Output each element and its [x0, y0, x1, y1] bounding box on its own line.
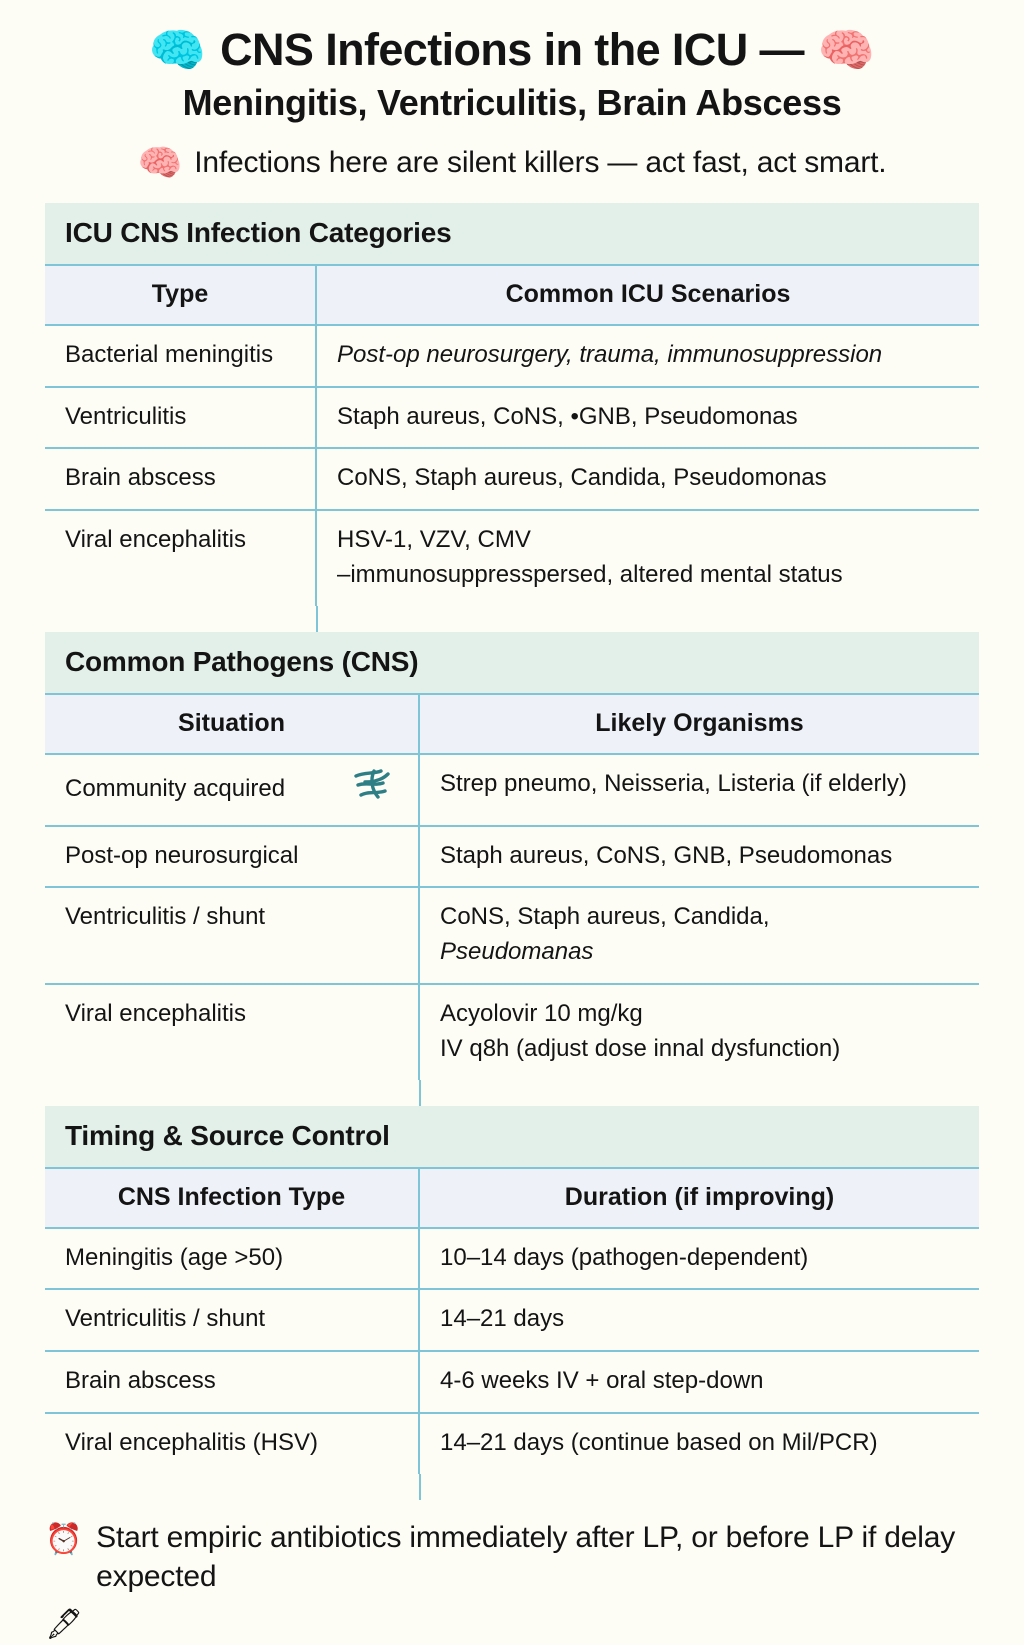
table-row: Viral encephalitis Acyolovir 10 mg/kg IV… — [45, 984, 979, 1080]
column-header-organisms: Likely Organisms — [419, 694, 979, 754]
cell-line: Pseudomanas — [440, 935, 965, 970]
table-row: Ventriculitis / shunt CoNS, Staph aureus… — [45, 887, 979, 984]
cell-duration: 4-6 weeks IV + oral step-down — [419, 1351, 979, 1413]
cell-situation-label: Community acquired — [65, 772, 285, 807]
cell-scenarios: Staph aureus, CoNS, •GNB, Pseudomonas — [316, 387, 979, 449]
column-header-duration: Duration (if improving) — [419, 1168, 979, 1228]
table-timing-source-control: CNS Infection Type Duration (if improvin… — [45, 1167, 979, 1474]
table-row: Post-op neurosurgical Staph aureus, CoNS… — [45, 826, 979, 888]
table-header-row: Type Common ICU Scenarios — [45, 265, 979, 325]
cell-duration: 10–14 days (pathogen-dependent) — [419, 1228, 979, 1290]
table-divider-tail — [45, 606, 979, 632]
cell-line: –immunosuppresspersed, altered mental st… — [337, 558, 965, 593]
table-common-pathogens: Situation Likely Organisms Community acq… — [45, 693, 979, 1080]
page-header: 🧠 CNS Infections in the ICU — 🧠 Meningit… — [0, 0, 1024, 181]
cell-line: IV q8h (adjust dose innal dysfunction) — [440, 1032, 965, 1067]
page-subtitle: Meningitis, Ventriculitis, Brain Abscess — [30, 83, 994, 123]
cell-organisms: CoNS, Staph aureus, Candida, Pseudomanas — [419, 887, 979, 984]
cell-situation: Post-op neurosurgical — [45, 826, 419, 888]
cell-situation: Ventriculitis / shunt — [45, 887, 419, 984]
cell-organisms: Staph aureus, CoNS, GNB, Pseudomonas — [419, 826, 979, 888]
table-row: Brain abscess 4-6 weeks IV + oral step-d… — [45, 1351, 979, 1413]
table-row: Bacterial meningitis Post-op neurosurger… — [45, 325, 979, 387]
cell-infection-type: Meningitis (age >50) — [45, 1228, 419, 1290]
column-header-type: Type — [45, 265, 316, 325]
spacer — [0, 181, 1024, 203]
cell-situation: Community acquired — [45, 754, 419, 826]
cell-type: Viral encephalitis — [45, 510, 316, 606]
column-header-situation: Situation — [45, 694, 419, 754]
brain-icon-pink: 🧠 — [818, 27, 875, 73]
title-row: 🧠 CNS Infections in the ICU — 🧠 — [30, 26, 994, 73]
table-header-row: CNS Infection Type Duration (if improvin… — [45, 1168, 979, 1228]
cell-type: Brain abscess — [45, 448, 316, 510]
cell-scenarios: Post-op neurosurgery, trauma, immunosupp… — [316, 325, 979, 387]
section-icu-cns-infection-categories: ICU CNS Infection Categories Type Common… — [45, 203, 979, 632]
cell-scenarios: CoNS, Staph aureus, Candida, Pseudomonas — [316, 448, 979, 510]
cell-situation: Viral encephalitis — [45, 984, 419, 1080]
table-row: Brain abscess CoNS, Staph aureus, Candid… — [45, 448, 979, 510]
column-header-scenarios: Common ICU Scenarios — [316, 265, 979, 325]
note-item-clipped: 🖋 — [45, 1603, 979, 1645]
table-row: Ventriculitis / shunt 14–21 days — [45, 1289, 979, 1351]
cell-duration: 14–21 days (continue based on Mil/PCR) — [419, 1413, 979, 1474]
cell-organisms: Acyolovir 10 mg/kg IV q8h (adjust dose i… — [419, 984, 979, 1080]
cell-infection-type: Brain abscess — [45, 1351, 419, 1413]
alarm-clock-icon: ⏰ — [45, 1518, 82, 1560]
cell-infection-type: Ventriculitis / shunt — [45, 1289, 419, 1351]
cell-line: Acyolovir 10 mg/kg — [440, 997, 965, 1032]
cell-infection-type: Viral encephalitis (HSV) — [45, 1413, 419, 1474]
cell-scenarios: HSV-1, VZV, CMV –immunosuppresspersed, a… — [316, 510, 979, 606]
section-common-pathogens: Common Pathogens (CNS) Situation Likely … — [45, 632, 979, 1106]
brain-icon-pink-small: 🧠 — [138, 145, 183, 181]
table-divider-tail — [45, 1080, 979, 1106]
column-header-infection-type: CNS Infection Type — [45, 1168, 419, 1228]
table-row: Viral encephalitis HSV-1, VZV, CMV –immu… — [45, 510, 979, 606]
tagline-row: 🧠 Infections here are silent killers — a… — [30, 145, 994, 181]
tagline-text: Infections here are silent killers — act… — [194, 146, 886, 180]
table-divider-tail — [45, 1474, 979, 1500]
section-band-title: Common Pathogens (CNS) — [45, 632, 979, 693]
cell-organisms: Strep pneumo, Neisseria, Listeria (if el… — [419, 754, 979, 826]
table-row: Meningitis (age >50) 10–14 days (pathoge… — [45, 1228, 979, 1290]
table-infection-categories: Type Common ICU Scenarios Bacterial meni… — [45, 264, 979, 606]
cell-duration: 14–21 days — [419, 1289, 979, 1351]
pen-nib-icon: 🖋 — [45, 1603, 83, 1645]
table-row: Community acquired — [45, 754, 979, 826]
note-text: Start empiric antibiotics immediately af… — [96, 1518, 979, 1597]
brain-icon-blue: 🧠 — [149, 27, 206, 73]
cell-type: Ventriculitis — [45, 387, 316, 449]
table-header-row: Situation Likely Organisms — [45, 694, 979, 754]
cell-type: Bacterial meningitis — [45, 325, 316, 387]
footer-notes: ⏰ Start empiric antibiotics immediately … — [45, 1518, 979, 1645]
page-title: CNS Infections in the ICU — — [220, 26, 804, 73]
table-row: Ventriculitis Staph aureus, CoNS, •GNB, … — [45, 387, 979, 449]
leaf-swirl-icon — [352, 767, 392, 812]
section-band-title: ICU CNS Infection Categories — [45, 203, 979, 264]
table-row: Viral encephalitis (HSV) 14–21 days (con… — [45, 1413, 979, 1474]
note-item: ⏰ Start empiric antibiotics immediately … — [45, 1518, 979, 1597]
cell-line: HSV-1, VZV, CMV — [337, 523, 965, 558]
cell-line: CoNS, Staph aureus, Candida, — [440, 900, 965, 935]
section-timing-source-control: Timing & Source Control CNS Infection Ty… — [45, 1106, 979, 1500]
section-band-title: Timing & Source Control — [45, 1106, 979, 1167]
